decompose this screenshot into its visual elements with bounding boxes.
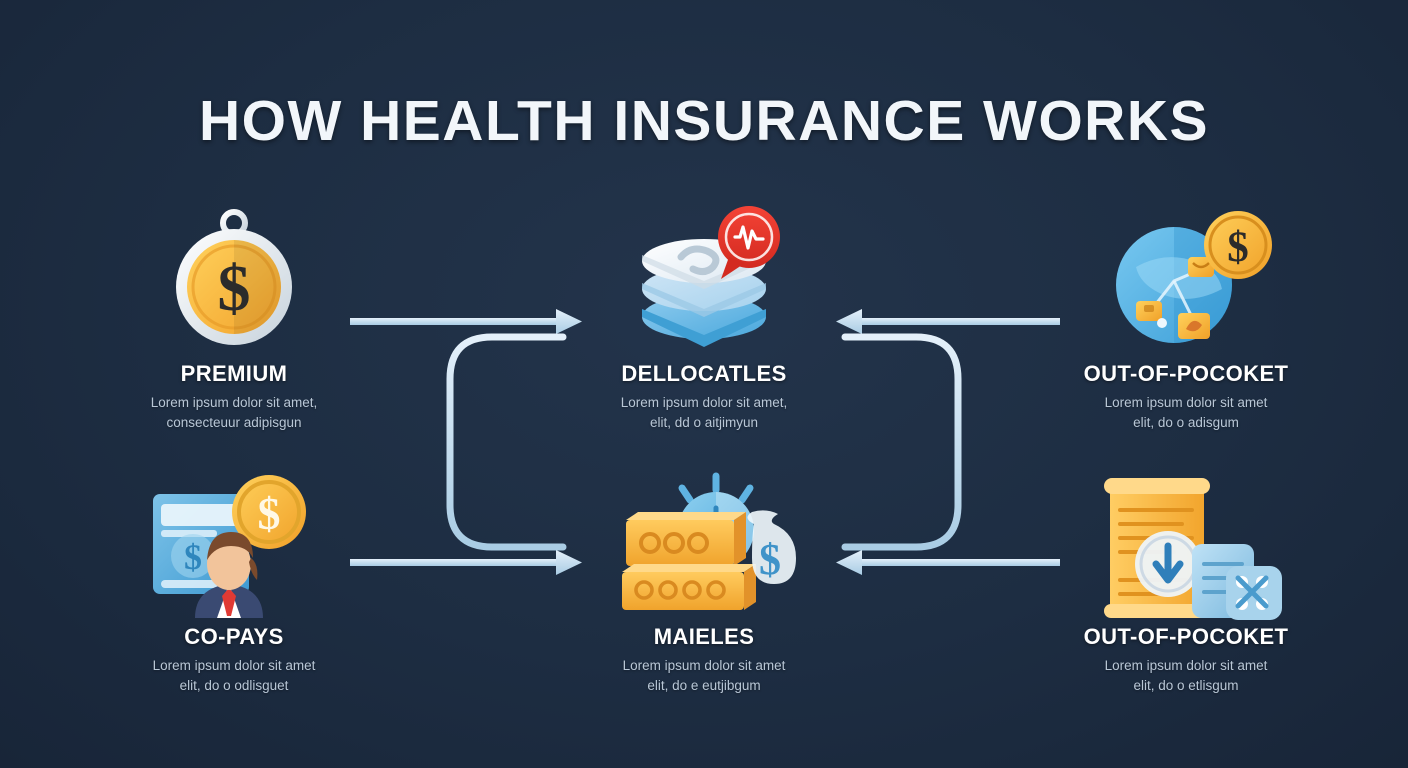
item-subtitle: Lorem ipsum dolor sit amet, consecteuur … bbox=[84, 393, 384, 432]
item-subtitle: Lorem ipsum dolor sit amet elit, do o ad… bbox=[1036, 393, 1336, 432]
item-title: PREMIUM bbox=[84, 361, 384, 387]
svg-text:$: $ bbox=[759, 535, 781, 584]
coin-medal-dollar-icon: $ bbox=[84, 205, 384, 355]
arrow-oop-to-maieles bbox=[836, 550, 1060, 575]
infographic-stage: HOW HEALTH INSURANCE WORKS bbox=[0, 0, 1408, 768]
item-subtitle: Lorem ipsum dolor sit amet elit, do o od… bbox=[84, 656, 384, 695]
stacked-layers-pulse-bubble-icon bbox=[554, 205, 854, 355]
svg-text:$: $ bbox=[258, 488, 281, 539]
item-co-pays[interactable]: $ $ CO-PAYS Lorem ipsum dolor sit amet e… bbox=[84, 468, 384, 695]
item-title: MAIELES bbox=[554, 624, 854, 650]
globe-bags-coin-icon: $ bbox=[1036, 205, 1336, 355]
coin-stack-clock-moneybag-icon: $ bbox=[554, 468, 854, 618]
arrow-premium-to-deductibles bbox=[350, 309, 582, 334]
item-out-of-pocket-top[interactable]: $ OUT-OF-POCOKET Lorem ipsum dolor sit a… bbox=[1036, 205, 1336, 432]
item-subtitle: Lorem ipsum dolor sit amet, elit, dd o a… bbox=[554, 393, 854, 432]
item-subtitle: Lorem ipsum dolor sit amet elit, do e eu… bbox=[554, 656, 854, 695]
right-bracket-connector bbox=[845, 337, 958, 547]
item-maieles[interactable]: $ MAIELES Lorem ipsum dolor sit amet eli… bbox=[554, 468, 854, 695]
item-deductibles[interactable]: DELLOCATLES Lorem ipsum dolor sit amet, … bbox=[554, 205, 854, 432]
person-card-coin-icon: $ $ bbox=[84, 468, 384, 618]
item-subtitle: Lorem ipsum dolor sit amet elit, do o et… bbox=[1036, 656, 1336, 695]
arrow-copays-to-maieles bbox=[350, 550, 582, 575]
svg-text:$: $ bbox=[1227, 224, 1249, 271]
scroll-download-cards-icon bbox=[1036, 468, 1336, 618]
item-title: OUT-OF-POCOKET bbox=[1036, 624, 1336, 650]
svg-text:$: $ bbox=[218, 252, 251, 325]
page-title: HOW HEALTH INSURANCE WORKS bbox=[0, 88, 1408, 154]
left-bracket-connector bbox=[450, 337, 563, 547]
item-title: DELLOCATLES bbox=[554, 361, 854, 387]
arrow-oop-to-deductibles bbox=[836, 309, 1060, 334]
item-title: OUT-OF-POCOKET bbox=[1036, 361, 1336, 387]
item-title: CO-PAYS bbox=[84, 624, 384, 650]
item-out-of-pocket-bottom[interactable]: OUT-OF-POCOKET Lorem ipsum dolor sit ame… bbox=[1036, 468, 1336, 695]
svg-text:$: $ bbox=[184, 537, 202, 577]
item-premium[interactable]: $ PREMIUM Lorem ipsum dolor sit amet, co… bbox=[84, 205, 384, 432]
